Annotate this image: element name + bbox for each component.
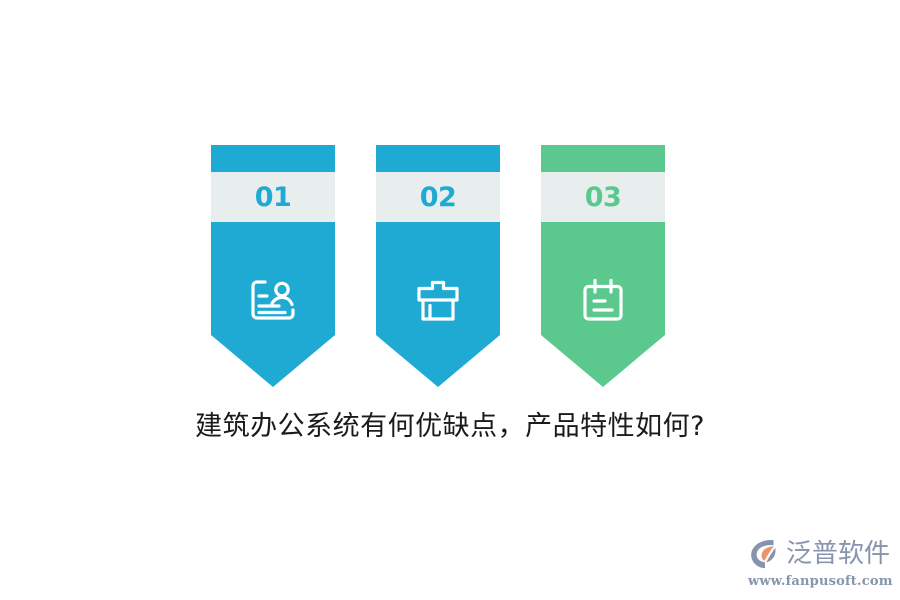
poster-canvas: 01 02 (0, 0, 900, 600)
store-building-icon (412, 274, 464, 326)
brand-top-row: 泛普软件 (748, 536, 884, 572)
banner-number-band-03: 03 (541, 172, 665, 222)
banner-number-band-02: 02 (376, 172, 500, 222)
banner-item-02[interactable]: 02 (376, 145, 500, 387)
banner-row: 01 02 (211, 145, 666, 387)
fanpu-swoosh-logo-icon (748, 537, 782, 571)
banner-body-03 (541, 222, 665, 387)
banner-number-label-02: 02 (420, 184, 457, 211)
notepad-calendar-icon (577, 274, 629, 326)
banner-item-03[interactable]: 03 (541, 145, 665, 387)
banner-number-label-03: 03 (585, 184, 622, 211)
banner-cap-03 (541, 145, 665, 172)
banner-number-band-01: 01 (211, 172, 335, 222)
banner-cap-02 (376, 145, 500, 172)
brand-name-label: 泛普软件 (786, 541, 890, 567)
banner-number-label-01: 01 (255, 184, 292, 211)
id-card-person-icon (247, 274, 299, 326)
banner-body-02 (376, 222, 500, 387)
banner-item-01[interactable]: 01 (211, 145, 335, 387)
brand-url-label: www.fanpusoft.com (748, 575, 884, 588)
page-title: 建筑办公系统有何优缺点，产品特性如何? (0, 410, 900, 444)
banner-body-01 (211, 222, 335, 387)
brand-watermark[interactable]: 泛普软件 www.fanpusoft.com (748, 536, 884, 592)
banner-cap-01 (211, 145, 335, 172)
